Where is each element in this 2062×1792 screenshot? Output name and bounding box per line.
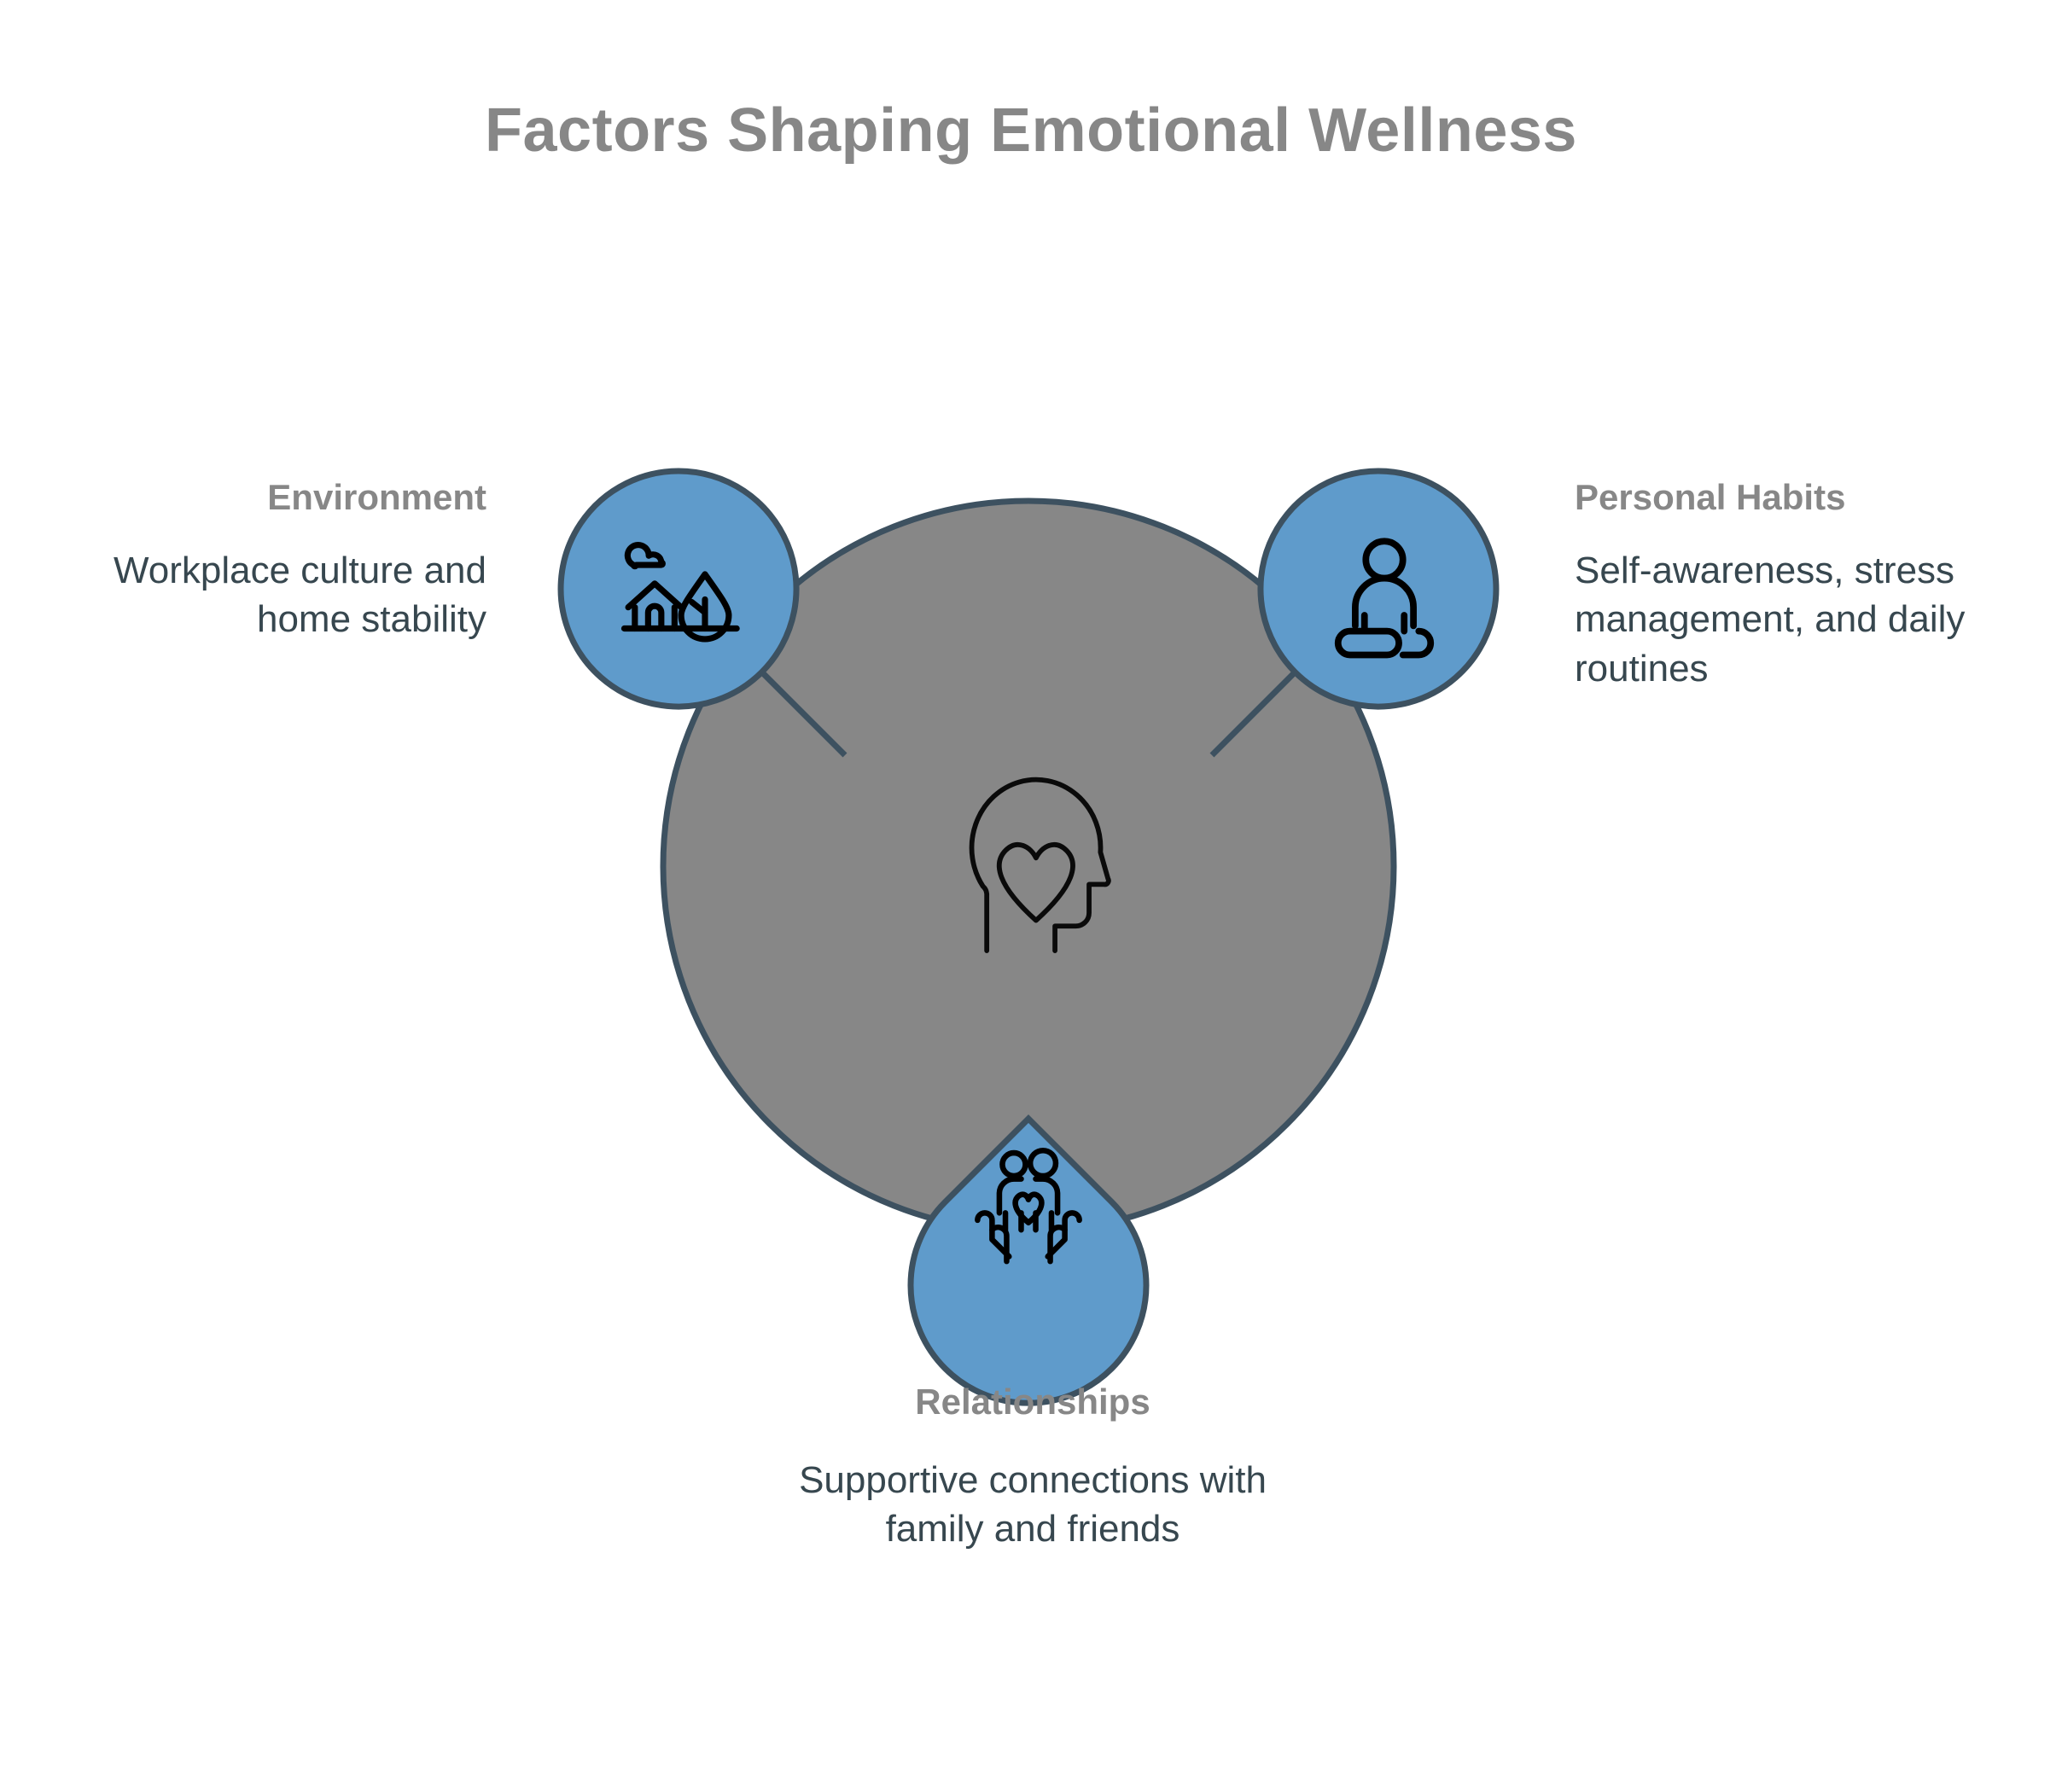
factor-text-environment: Environment Workplace culture and home s… bbox=[34, 478, 486, 644]
factor-text-personal-habits: Personal Habits Self-awareness, stress m… bbox=[1575, 478, 2036, 693]
factor-heading-environment: Environment bbox=[34, 478, 486, 517]
factor-heading-relationships: Relationships bbox=[751, 1382, 1314, 1422]
factor-description-environment: Workplace culture and home stability bbox=[34, 546, 486, 643]
factor-description-relationships: Supportive connections with family and f… bbox=[751, 1456, 1314, 1553]
factor-heading-personal-habits: Personal Habits bbox=[1575, 478, 2036, 517]
factor-text-relationships: Relationships Supportive connections wit… bbox=[751, 1382, 1314, 1554]
emotional-wellness-diagram: Environment Workplace culture and home s… bbox=[0, 0, 2062, 1792]
factor-description-personal-habits: Self-awareness, stress management, and d… bbox=[1575, 546, 2036, 693]
